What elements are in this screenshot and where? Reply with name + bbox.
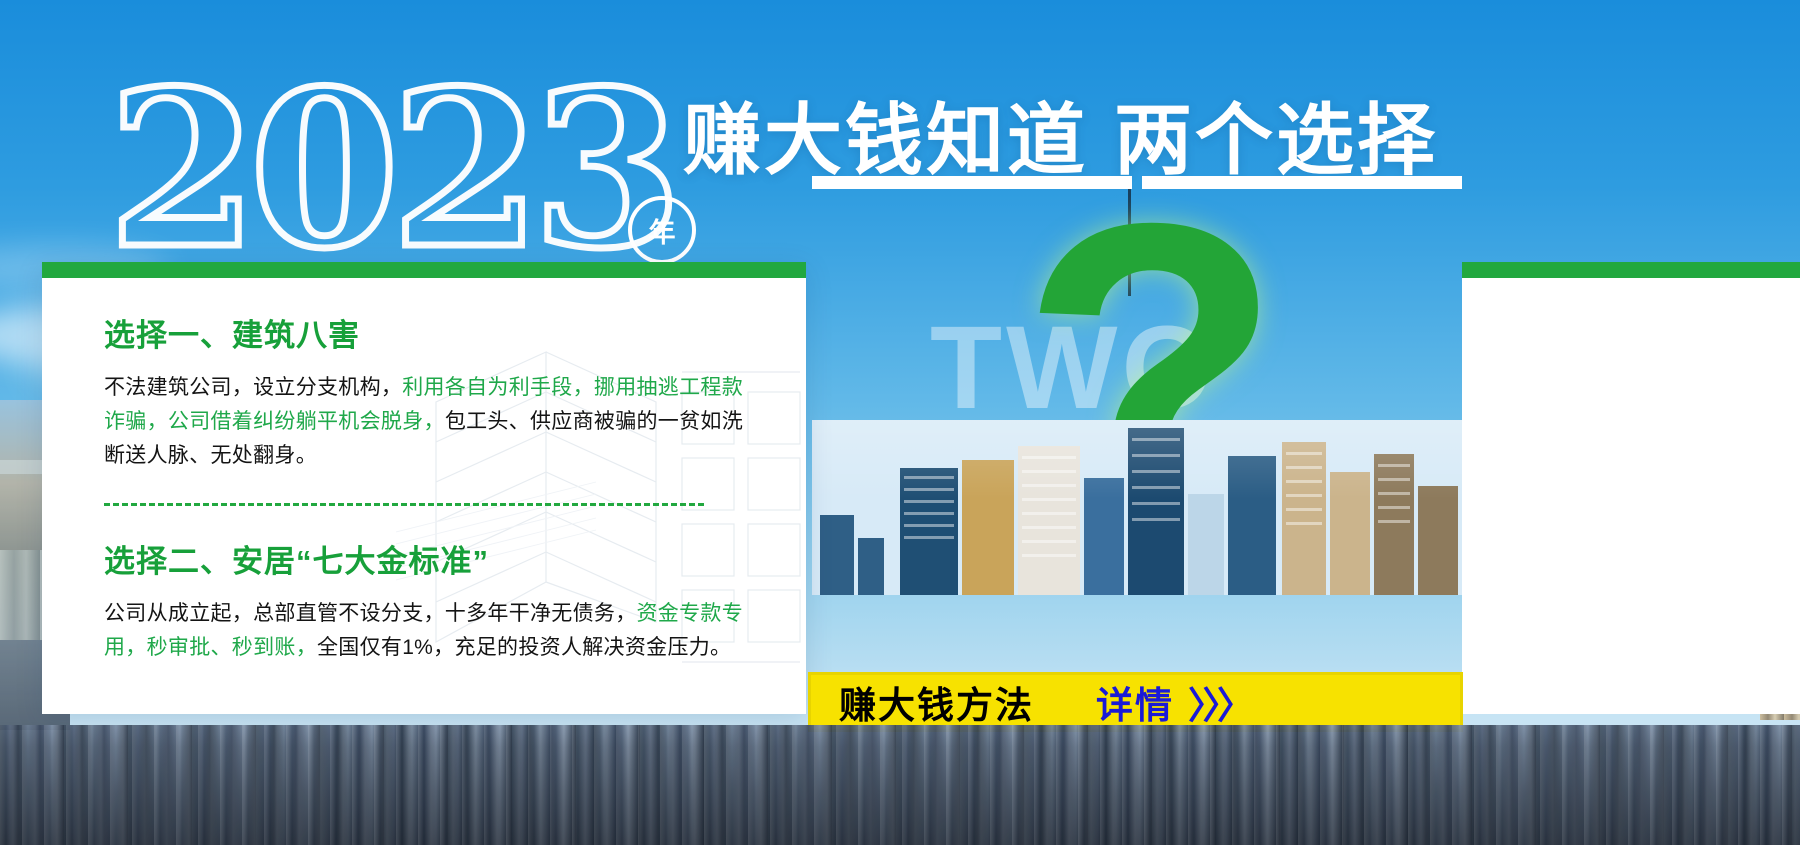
section-two-body-part1: 公司从成立起，总部直管不设分支，十多年干净无债务， bbox=[104, 602, 637, 625]
headline-right-text: 两个选择 bbox=[1114, 96, 1438, 184]
cta-main-label: 赚大钱方法 bbox=[839, 675, 1034, 729]
year-unit-badge: 年 bbox=[628, 196, 696, 264]
card-content: 选择一、建筑八害 不法建筑公司，设立分支机构，利用各自为利手段，挪用抽逃工程款诈… bbox=[104, 310, 744, 665]
section-two-body-part3: 全国仅有1%，充足的投资人解决资金压力。 bbox=[317, 636, 731, 659]
cta-detail-link[interactable]: 详情 bbox=[1096, 675, 1174, 729]
promo-banner: 2023 年 赚大钱知道两个选择 TWO CHOICES ? bbox=[0, 0, 1800, 845]
city-skyline-photo bbox=[812, 420, 1462, 595]
section-one-body-part1: 不法建筑公司，设立分支机构， bbox=[104, 376, 402, 399]
cta-bar[interactable]: 赚大钱方法 详情 〉〉〉 bbox=[808, 672, 1463, 732]
headline-left-text: 赚大钱知道 bbox=[683, 96, 1088, 184]
section-two-title: 选择二、安居“七大金标准” bbox=[104, 536, 744, 581]
section-two-body: 公司从成立起，总部直管不设分支，十多年干净无债务，资金专款专用，秒审批、秒到账，… bbox=[104, 597, 744, 665]
right-white-panel bbox=[1462, 278, 1800, 714]
chevron-right-icon: 〉〉〉 bbox=[1188, 675, 1250, 729]
section-one-body: 不法建筑公司，设立分支机构，利用各自为利手段，挪用抽逃工程款诈骗，公司借着纠纷躺… bbox=[104, 371, 744, 473]
year-outline-number: 2023 bbox=[108, 62, 674, 277]
section-divider bbox=[104, 503, 704, 506]
right-accent-bar bbox=[1462, 262, 1800, 278]
headline-rule-right bbox=[1142, 176, 1462, 189]
card-top-accent-bar bbox=[42, 262, 806, 278]
page-title: 赚大钱知道两个选择 bbox=[683, 78, 1438, 190]
bottom-photo-strip bbox=[0, 725, 1800, 845]
skyline-svg bbox=[812, 420, 1462, 595]
section-one-title: 选择一、建筑八害 bbox=[104, 310, 744, 355]
headline-rule-left bbox=[812, 176, 1132, 189]
info-card: 选择一、建筑八害 不法建筑公司，设立分支机构，利用各自为利手段，挪用抽逃工程款诈… bbox=[42, 262, 806, 714]
